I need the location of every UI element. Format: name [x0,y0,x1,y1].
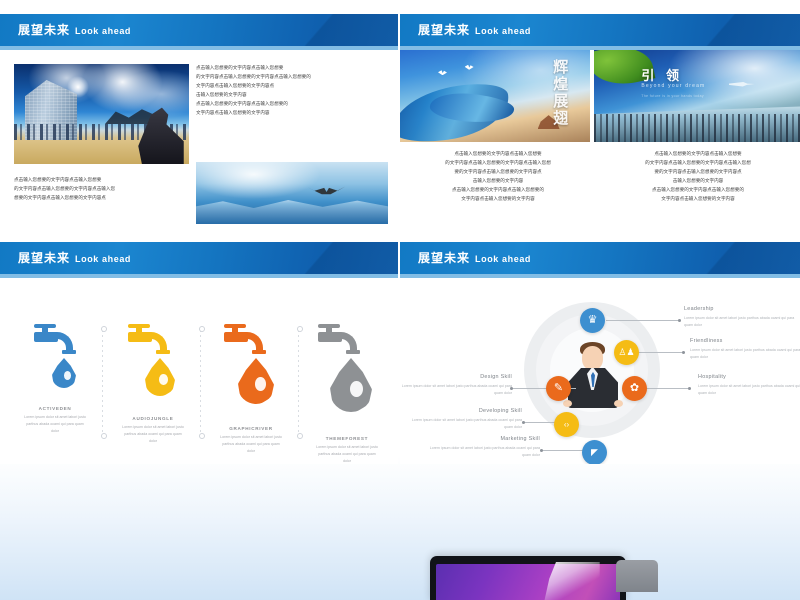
hand-shape [614,400,623,407]
slide-thumbnail-1[interactable]: 展望未来Look ahead 点击输入您想要的文字内容点击输入您想要 的文字内容… [0,14,398,236]
body-line: 点击输入您想要的文字内容点击输入您想要 [196,64,388,73]
slide-2-title: 展望未来Look ahead [418,21,531,39]
column-divider [102,330,103,435]
connector-line [642,388,688,389]
skill-label-design: Design Skill Lorem ipsum dolor sit amet … [400,374,512,396]
column-divider [298,330,299,435]
body-line: 击输入您想要的文字内容 [600,177,796,186]
connector-node [540,449,543,452]
megaphone-icon[interactable]: ◤ [582,440,607,464]
sun-flare-icon [67,76,89,98]
skill-name: Friendliness [690,338,800,344]
footer-line: 点击输入您想要的文字内容点击输入您想要 [14,176,189,185]
skill-label-leadership: Leadership Lorem ipsum dolor sit amet la… [684,306,800,328]
blue-ribbon-calligraphy-photo: 辉煌展翅 [400,50,590,142]
slide-3-title: 展望未来Look ahead [18,249,131,267]
body-line: 文字内容点击输入您想要的文字内容 [196,109,388,118]
slide-2-left-text: 点击输入您想要的文字内容点击输入您想要 的文字内容点击输入您想要的文字内容点击输… [404,150,592,204]
skill-desc: Lorem ipsum dolor sit amet labori justo … [404,417,522,430]
slide-4-title-cn: 展望未来 [418,251,470,265]
airplane-icon [729,81,755,87]
body-line: 的文字内容点击输入您想要的文字内容点击输入您想 [600,159,796,168]
skill-name: Hospitality [698,374,800,380]
faucet-label: ACTIVEDEN Lorem ipsum dolor sit amet lab… [8,406,102,434]
faucet-icon [126,324,172,358]
faucet-name: GRAPHICRIVER [204,426,298,431]
body-line: 文字内容点击输入您想要的文字内容点 [196,82,388,91]
slide-2-header: 展望未来Look ahead [400,14,800,46]
connector-line [606,320,678,321]
faucet-icon [222,324,268,358]
faucet-infographic: ACTIVEDEN Lorem ipsum dolor sit amet lab… [0,278,398,464]
connector-node [688,387,691,390]
water-drop-icon [330,358,372,412]
slide-2-right-text: 点击输入您想要的文字内容点击输入您想要 的文字内容点击输入您想要的文字内容点击输… [600,150,796,204]
slide-2-title-cn: 展望未来 [418,23,470,37]
head-shape [582,346,603,370]
code-icon[interactable]: ‹› [554,412,579,437]
connector-line [636,352,682,353]
slide-4-body: ♛ ♙♟ ✿ ✎ ‹› ◤ Leadership Lorem ipsum dol… [400,278,800,464]
skill-desc: Lorem ipsum dolor sit amet labori justo … [422,445,540,458]
faucet-item-themeforest[interactable]: THEMEFOREST Lorem ipsum dolor sit amet l… [300,278,394,464]
slide-1-title-en: Look ahead [75,26,131,36]
slide-1-body: 点击输入您想要的文字内容点击输入您想要 的文字内容点击输入您想要的文字内容点击输… [0,50,398,236]
faucet-desc: Lorem ipsum dolor sit amet labori justo … [8,414,102,434]
slide-1-body-text: 点击输入您想要的文字内容点击输入您想要 的文字内容点击输入您想要的文字内容点击输… [196,64,388,118]
slide-1-title: 展望未来Look ahead [18,21,131,39]
skill-label-friendliness: Friendliness Lorem ipsum dolor sit amet … [690,338,800,360]
skill-desc: Lorem ipsum dolor sit amet labori justo … [684,315,800,328]
laptop-side-panel [616,560,658,592]
people-icon[interactable]: ♙♟ [614,340,639,365]
slide-3-header: 展望未来Look ahead [0,242,398,274]
palette-icon[interactable]: ✎ [546,376,571,401]
crown-icon[interactable]: ♛ [580,308,605,333]
slide-4-title: 展望未来Look ahead [418,249,531,267]
footer-line: 的文字内容点击输入您想要的文字内容点击输入您 [14,185,189,194]
faucet-name: ACTIVEDEN [8,406,102,411]
water-drop-icon [52,358,76,388]
body-line: 要的文字内容点击输入您想要的文字内容点 [600,168,796,177]
skill-name: Leadership [684,306,800,312]
body-line: 击输入您想要的文字内容 [196,91,388,100]
calligraphy-text: 辉煌展翅 [551,59,567,127]
body-line: 文字内容点击输入您想要的文字内容 [404,195,592,204]
hand-shape [563,400,572,407]
slide-1-title-cn: 展望未来 [18,23,70,37]
faucet-icon [32,324,78,358]
lead-subtitle-en: The future is in your hands today [641,94,704,98]
body-line: 点击输入您想要的文字内容点击输入您想要的 [196,100,388,109]
faucet-name: THEMEFOREST [300,436,394,441]
slide-thumbnail-3[interactable]: 展望未来Look ahead [0,242,398,464]
faucet-desc: Lorem ipsum dolor sit amet labori justo … [106,424,200,444]
eagle-icon [306,183,346,199]
skill-desc: Lorem ipsum dolor sit amet labori justo … [400,383,512,396]
skill-name: Design Skill [400,374,512,380]
body-line: 的文字内容点击输入您想要的文字内容点击输入您想 [404,159,592,168]
faucet-desc: Lorem ipsum dolor sit amet labori justo … [204,434,298,454]
laptop-preview[interactable] [430,556,626,600]
body-line: 要的文字内容点击输入您想要的文字内容点 [404,168,592,177]
connector-node [682,351,685,354]
lead-skyline-photo: 引 领 Beyond your dream The future is in y… [594,50,800,142]
body-line: 文字内容点击输入您想要的文字内容 [600,195,796,204]
slide-3-title-cn: 展望未来 [18,251,70,265]
faucet-icon [316,324,362,358]
eagle-over-sea-photo [196,162,388,224]
body-line: 点击输入您想要的文字内容点击输入您想要的 [404,186,592,195]
skill-label-marketing: Marketing Skill Lorem ipsum dolor sit am… [422,436,540,458]
slide-1-header: 展望未来Look ahead [0,14,398,46]
faucet-name: AUDIOJUNGLE [106,416,200,421]
column-divider [200,330,201,435]
water-drop-icon [238,358,274,404]
slide-thumbnail-2[interactable]: 展望未来Look ahead 辉煌展翅 引 领 Beyond your drea… [400,14,800,236]
slide-thumbnail-4[interactable]: 展望未来Look ahead [400,242,800,464]
skill-name: Developing Skill [404,408,522,414]
lead-title-cn: 引 领 [641,65,683,84]
faucet-label: AUDIOJUNGLE Lorem ipsum dolor sit amet l… [106,416,200,444]
slide-2-body: 辉煌展翅 引 领 Beyond your dream The future is… [400,50,800,236]
handshake-icon[interactable]: ✿ [622,376,647,401]
dove-icon [438,70,447,75]
crowd-shape [594,114,800,142]
body-line: 点击输入您想要的文字内容点击输入您想要 [600,150,796,159]
footer-line: 想要的文字内容点击输入您想要的文字内容点 [14,194,189,203]
slide-2-title-en: Look ahead [475,26,531,36]
dove-icon [465,65,474,70]
slide-3-title-en: Look ahead [75,254,131,264]
water-drop-icon [145,358,175,396]
skyscraper-city-photo [14,64,189,164]
body-line: 的文字内容点击输入您想要的文字内容点击输入您想要的 [196,73,388,82]
skill-desc: Lorem ipsum dolor sit amet labori justo … [698,383,800,396]
connector-node [678,319,681,322]
slide-1-footer-text: 点击输入您想要的文字内容点击输入您想要 的文字内容点击输入您想要的文字内容点击输… [14,176,189,203]
slide-4-header: 展望未来Look ahead [400,242,800,274]
skill-label-hospitality: Hospitality Lorem ipsum dolor sit amet l… [698,374,800,396]
faucet-item-graphicriver[interactable]: GRAPHICRIVER Lorem ipsum dolor sit amet … [204,278,298,464]
body-line: 点击输入您想要的文字内容点击输入您想要的 [600,186,796,195]
slide-3-body: ACTIVEDEN Lorem ipsum dolor sit amet lab… [0,278,398,464]
faucet-label: GRAPHICRIVER Lorem ipsum dolor sit amet … [204,426,298,454]
faucet-label: THEMEFOREST Lorem ipsum dolor sit amet l… [300,436,394,464]
preview-stage [0,470,800,600]
slide-4-title-en: Look ahead [475,254,531,264]
wave-shape [196,195,388,224]
faucet-desc: Lorem ipsum dolor sit amet labori justo … [300,444,394,464]
body-line: 击输入您想要的文字内容 [404,177,592,186]
skill-desc: Lorem ipsum dolor sit amet labori justo … [690,347,800,360]
faucet-item-audiojungle[interactable]: AUDIOJUNGLE Lorem ipsum dolor sit amet l… [106,278,200,464]
skill-label-developing: Developing Skill Lorem ipsum dolor sit a… [404,408,522,430]
skill-name: Marketing Skill [422,436,540,442]
slide-thumbnail-grid: 展望未来Look ahead 点击输入您想要的文字内容点击输入您想要 的文字内容… [0,14,800,470]
lead-title-en: Beyond your dream [641,83,705,89]
faucet-item-activeden[interactable]: ACTIVEDEN Lorem ipsum dolor sit amet lab… [8,278,102,464]
body-line: 点击输入您想要的文字内容点击输入您想要 [404,150,592,159]
connector-node [522,421,525,424]
